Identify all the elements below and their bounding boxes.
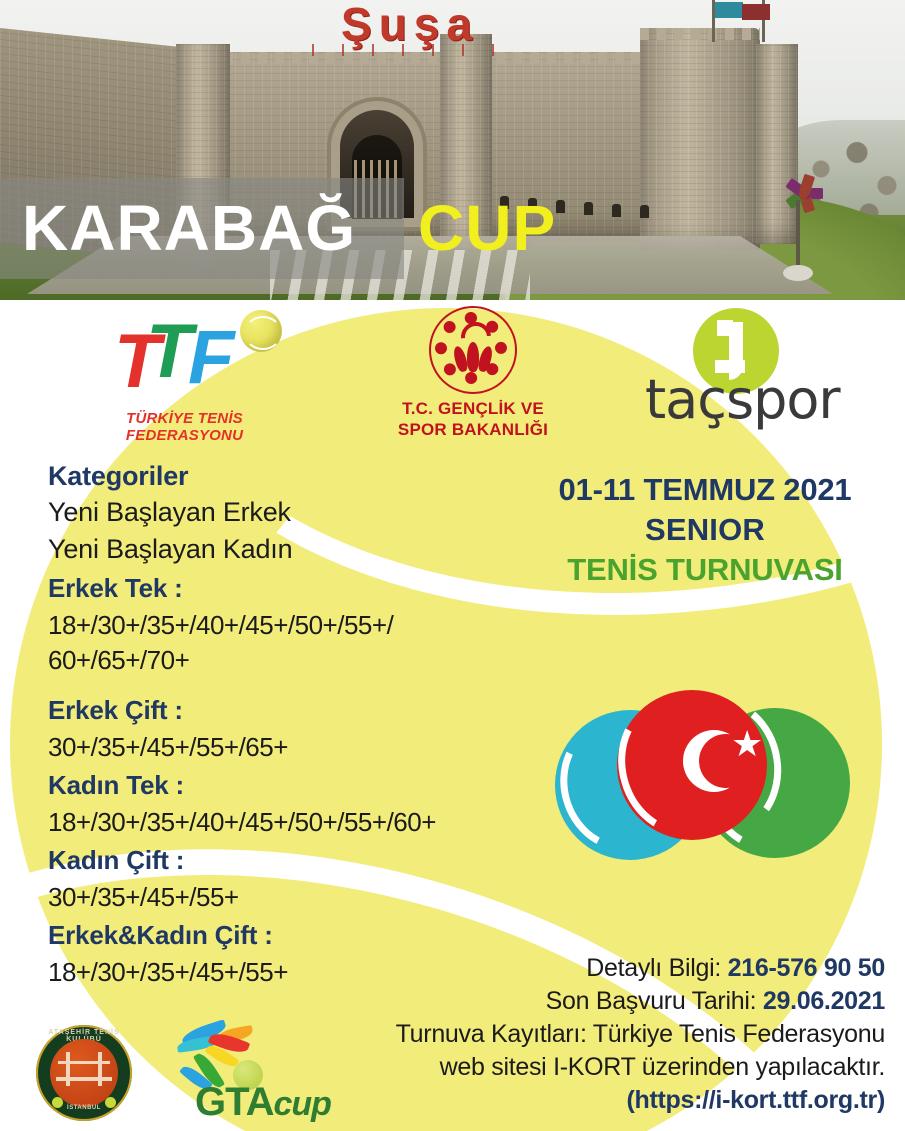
fortress-tower-c: [640, 28, 760, 250]
contact-phone-value[interactable]: 216-576 90 50: [728, 954, 885, 982]
contact-deadline-row: Son Başvuru Tarihi: 29.06.2021: [330, 985, 885, 1018]
ttf-logo-caption: TÜRKİYE TENİS FEDERASYONU: [72, 410, 297, 444]
registration-line-1: Turnuva Kayıtları: Türkiye Tenis Federas…: [330, 1018, 885, 1051]
ministry-caption-line1: T.C. GENÇLİK VE: [378, 398, 568, 419]
wall-loophole: [584, 202, 593, 215]
category-label: Erkek Çift :: [48, 690, 518, 730]
category-label: Erkek Tek :: [48, 568, 518, 608]
wall-loophole: [612, 204, 621, 217]
susa-hillside-sign: Şuşa: [300, 1, 520, 49]
wall-loophole: [640, 205, 649, 218]
gta-word-main: GTA: [195, 1080, 273, 1124]
pinwheel-sculpture: [769, 170, 827, 290]
tacspor-wordmark: taçspor: [645, 370, 885, 430]
gta-word-suffix: cup: [273, 1085, 330, 1123]
event-dates: 01-11 TEMMUZ 2021: [520, 470, 890, 510]
ttf-logo[interactable]: T T F TÜRKİYE TENİS FEDERASYONU: [72, 310, 297, 440]
category-values-line-1: 18+/30+/35+/40+/45+/50+/55+/: [48, 608, 518, 643]
category-label: Erkek&Kadın Çift :: [48, 915, 518, 955]
club-badge-text-bottom: İSTANBUL: [36, 1105, 132, 1111]
event-level: SENIOR: [520, 510, 890, 550]
tacspor-logo[interactable]: taçspor: [645, 302, 885, 442]
ministry-logo-caption: T.C. GENÇLİK VE SPOR BAKANLIĞI: [378, 398, 568, 440]
category-beginner-men: Yeni Başlayan Erkek: [48, 494, 518, 531]
ttf-letter-t2: T: [146, 314, 192, 390]
registration-url[interactable]: (https://i-kort.ttf.org.tr): [330, 1084, 885, 1117]
contact-deadline-value: 29.06.2021: [763, 987, 885, 1015]
category-group-mens-doubles: Erkek Çift : 30+/35+/45+/55+/65+: [48, 690, 518, 765]
flag-azerbaijan: [715, 2, 743, 18]
wall-loophole: [556, 200, 565, 213]
category-values-line-1: 30+/35+/45+/55+/65+: [48, 730, 518, 765]
spacer: [48, 678, 518, 690]
atasehir-tenis-kulubu-logo[interactable]: ATAŞEHİR TENİS KULÜBÜ İSTANBUL: [36, 1025, 136, 1125]
flag-turkey: [742, 4, 770, 20]
contact-phone-label: Detaylı Bilgi:: [586, 954, 721, 982]
tacspor-t-head: [717, 320, 733, 336]
category-values-line-1: 18+/30+/35+/40+/45+/50+/55+/60+: [48, 805, 518, 840]
gta-cup-logo[interactable]: GTAcup: [165, 1020, 340, 1130]
ttf-logo-mark: T T F: [90, 310, 280, 402]
contact-phone-row: Detaylı Bilgi: 216-576 90 50: [330, 952, 885, 985]
contact-deadline-label: Son Başvuru Tarihi:: [546, 987, 757, 1015]
categories-column: Kategoriler Yeni Başlayan Erkek Yeni Baş…: [48, 458, 518, 990]
event-heading: 01-11 TEMMUZ 2021 SENIOR TENİS TURNUVASI: [520, 470, 890, 590]
bridge-icon: [58, 1061, 110, 1086]
registration-line-2: web sitesi I-KORT üzerinden yapılacaktır…: [330, 1051, 885, 1084]
category-label: Kadın Çift :: [48, 840, 518, 880]
poster-title-main: KARABAĞ: [22, 186, 356, 270]
poster-title-accent: CUP: [418, 186, 556, 270]
sponsor-logo-row: T T F TÜRKİYE TENİS FEDERASYONU T.C. GEN…: [0, 302, 905, 440]
battlement-tower-c: [640, 28, 760, 40]
ttf-letter-f: F: [188, 320, 234, 396]
bridge-deck: [56, 1077, 112, 1081]
contact-block: Detaylı Bilgi: 216-576 90 50 Son Başvuru…: [330, 952, 885, 1117]
gta-wordmark: GTAcup: [195, 1080, 331, 1126]
category-beginner-women: Yeni Başlayan Kadın: [48, 531, 518, 568]
ministry-emblem-icon: [429, 306, 517, 394]
ministry-logo[interactable]: T.C. GENÇLİK VE SPOR BAKANLIĞI: [378, 306, 568, 440]
event-type: TENİS TURNUVASI: [520, 550, 890, 590]
ministry-caption-line2: SPOR BAKANLIĞI: [378, 419, 568, 440]
categories-heading: Kategoriler: [48, 458, 518, 494]
three-tennis-balls-graphic: ★: [555, 690, 885, 880]
ttf-tennis-ball-icon: [240, 310, 282, 352]
category-label: Kadın Tek :: [48, 765, 518, 805]
category-group-mens-singles: Erkek Tek : 18+/30+/35+/40+/45+/50+/55+/…: [48, 568, 518, 678]
category-values-line-1: 30+/35+/45+/55+: [48, 880, 518, 915]
category-group-womens-singles: Kadın Tek : 18+/30+/35+/40+/45+/50+/55+/…: [48, 765, 518, 840]
susa-sign-supports: [312, 44, 508, 56]
category-group-womens-doubles: Kadın Çift : 30+/35+/45+/55+: [48, 840, 518, 915]
figure-center: [467, 342, 479, 372]
category-values-line-2: 60+/65+/70+: [48, 643, 518, 678]
poster-root: Şuşa KARABAĞ CUP T T F TÜRKİYE TENİS FED…: [0, 0, 905, 1131]
